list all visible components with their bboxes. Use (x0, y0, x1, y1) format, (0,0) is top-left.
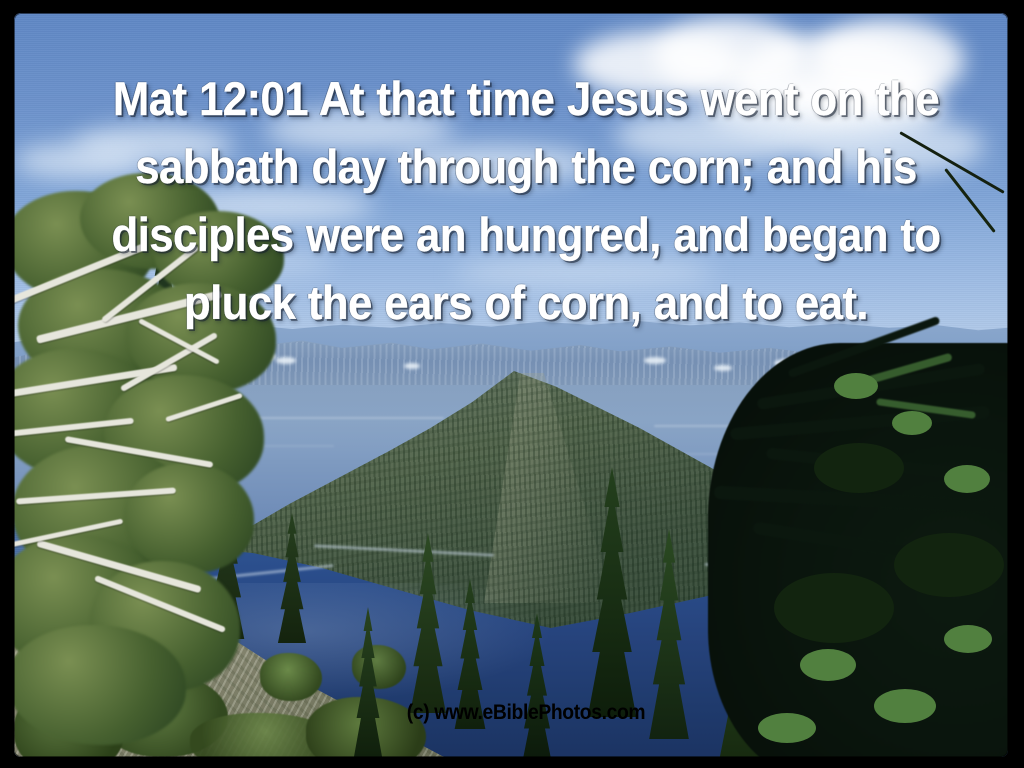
photograph: Mat 12:01 At that time Jesus went on the… (14, 13, 1008, 757)
scripture-text: Mat 12:01 At that time Jesus went on the… (50, 65, 1002, 337)
watermark-credit: (c) www.eBiblePhotos.com (55, 701, 997, 725)
image-frame: Mat 12:01 At that time Jesus went on the… (0, 0, 1024, 768)
